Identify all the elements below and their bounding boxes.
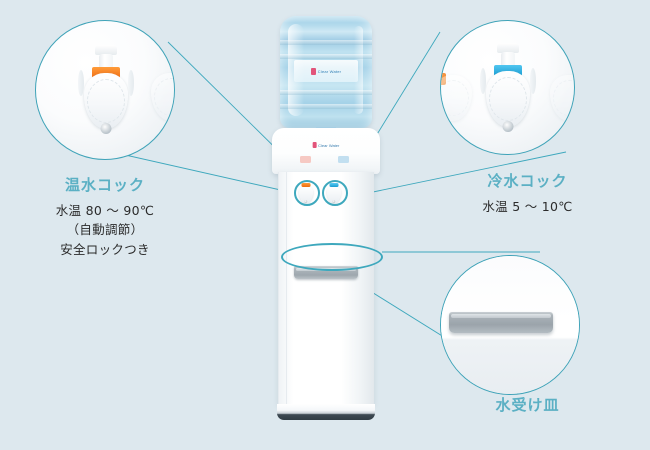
- hot-indicator-light: [300, 156, 311, 163]
- water-dispenser: Clear Water Clear Water: [268, 16, 384, 420]
- callout-cold: 冷水コック 水温 5 〜 10℃: [430, 172, 625, 216]
- bottle-label: Clear Water: [294, 60, 358, 82]
- magnifier-hot-faucet: [35, 20, 175, 160]
- callout-cold-title: 冷水コック: [430, 172, 625, 190]
- water-bottle: Clear Water: [280, 16, 372, 128]
- callout-hot-title: 温水コック: [10, 176, 200, 194]
- callout-hot: 温水コック 水温 80 〜 90℃ （自動調節） 安全ロックつき: [10, 176, 200, 259]
- magnifier-cold-faucet: [440, 20, 575, 155]
- illustration-stage: Clear Water Clear Water: [0, 0, 650, 450]
- highlight-ring-hot-faucet: [294, 180, 320, 206]
- dispenser-top-unit: Clear Water: [272, 128, 380, 174]
- magnifier-drip-tray: [440, 255, 580, 395]
- callout-tray-title: 水受け皿: [430, 396, 625, 414]
- brand-logo: Clear Water: [313, 142, 340, 148]
- callout-hot-line-1: 水温 80 〜 90℃: [10, 201, 200, 220]
- callout-cold-line-1: 水温 5 〜 10℃: [430, 197, 625, 216]
- highlight-ellipse-drip-tray: [281, 243, 383, 271]
- bottle-label-text: Clear Water: [318, 69, 341, 74]
- dispenser-base: [277, 404, 375, 420]
- callout-tray: 水受け皿: [430, 396, 625, 414]
- dispenser-column: [278, 172, 374, 404]
- callout-hot-line-3: 安全ロックつき: [10, 240, 200, 259]
- drip-tray-object: [449, 312, 553, 333]
- highlight-ring-cold-faucet: [322, 180, 348, 206]
- cold-indicator-light: [338, 156, 349, 163]
- callout-hot-line-2: （自動調節）: [10, 220, 200, 239]
